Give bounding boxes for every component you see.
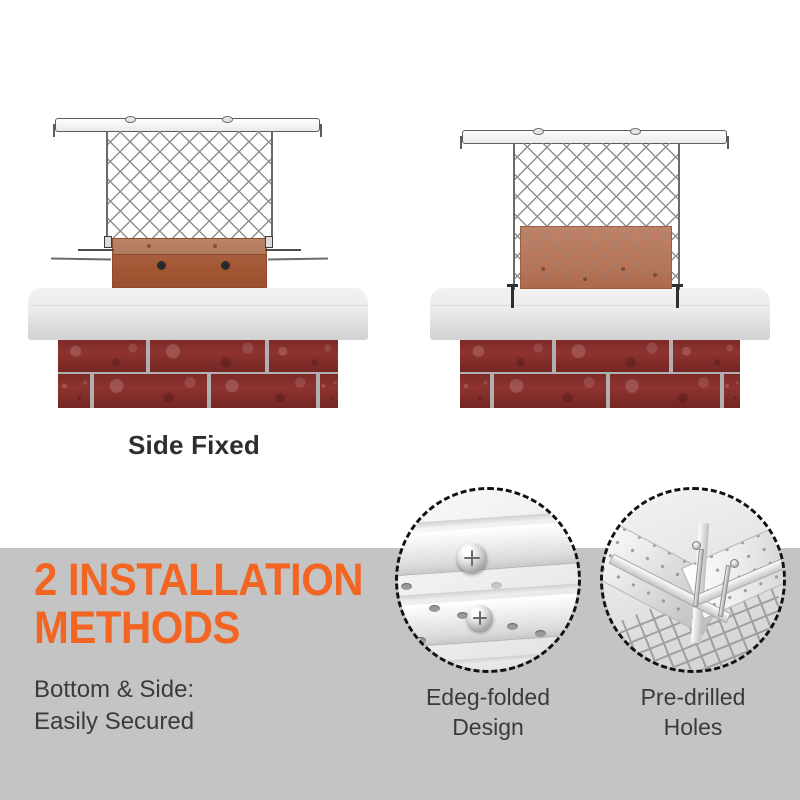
phillips-screw: [467, 605, 493, 631]
brick-chimney: [460, 340, 740, 408]
brick-row: [460, 374, 740, 408]
lid-rivet: [222, 116, 233, 123]
flue-collar: [113, 239, 266, 255]
mesh-screen-overlay: [520, 226, 672, 278]
feature-photo-pre-drilled: [600, 487, 786, 673]
brick-row: [58, 340, 338, 372]
rivet: [692, 541, 701, 550]
headline-line-2: METHODS: [34, 604, 369, 652]
lid-rivet: [533, 128, 544, 135]
headline-line-1: 2 INSTALLATION: [34, 554, 363, 605]
brick-row: [58, 374, 338, 408]
side-bracket: [104, 236, 112, 248]
feature-photo-edge-folded: [395, 487, 581, 673]
chimney-crown: [430, 288, 770, 340]
brick-chimney: [58, 340, 338, 408]
lid-lip: [53, 124, 55, 137]
subtext-line-2: Easily Secured: [34, 706, 394, 738]
photo-edge-folded: [395, 487, 581, 673]
side-bolt: [265, 249, 301, 251]
mesh-screen: [108, 131, 271, 248]
caption-side-fixed: Side Fixed: [0, 430, 394, 461]
caption-pre-drilled: Pre-drilled Holes: [593, 682, 793, 742]
side-bolt: [78, 249, 114, 251]
phillips-screw: [457, 543, 487, 573]
lid-lip: [320, 124, 322, 137]
lid-lip: [727, 136, 729, 149]
cap-lid: [462, 130, 727, 144]
headline-block: 2 INSTALLATION METHODS Bottom & Side: Ea…: [34, 556, 394, 738]
side-screw-head: [157, 261, 166, 270]
lid-rivet: [125, 116, 136, 123]
caption-edge-folded: Edeg-folded Design: [388, 682, 588, 742]
infographic-page: Side Fixed: [0, 0, 800, 800]
bottom-screw: [511, 284, 514, 308]
illustration-side-fixed: Side Fixed: [0, 0, 400, 420]
dashed-circle-frame: [600, 487, 786, 673]
subtext-line-1: Bottom & Side:: [34, 674, 394, 706]
side-screw-head: [221, 261, 230, 270]
cap-lid: [55, 118, 320, 132]
headline-subtext: Bottom & Side: Easily Secured: [34, 674, 394, 738]
bottom-screw: [676, 284, 679, 308]
lid-rivet: [630, 128, 641, 135]
brick-row: [460, 340, 740, 372]
caption-line-2: Design: [452, 714, 524, 740]
illustration-bottom-fixed: Bottom Fixed: [400, 0, 800, 420]
cap-leg: [678, 143, 680, 290]
cap-leg: [271, 131, 273, 245]
dashed-circle-frame: [395, 487, 581, 673]
headline-title: 2 INSTALLATION METHODS: [34, 556, 369, 652]
flue-tile: [112, 238, 267, 288]
caption-line-1: Edeg-folded: [426, 684, 550, 710]
caption-line-1: Pre-drilled: [641, 684, 746, 710]
side-bracket: [265, 236, 273, 248]
chimney-crown: [28, 288, 368, 340]
lid-lip: [460, 136, 462, 149]
photo-pre-drilled-holes: [600, 487, 786, 673]
rivet: [730, 559, 739, 568]
caption-line-2: Holes: [664, 714, 723, 740]
